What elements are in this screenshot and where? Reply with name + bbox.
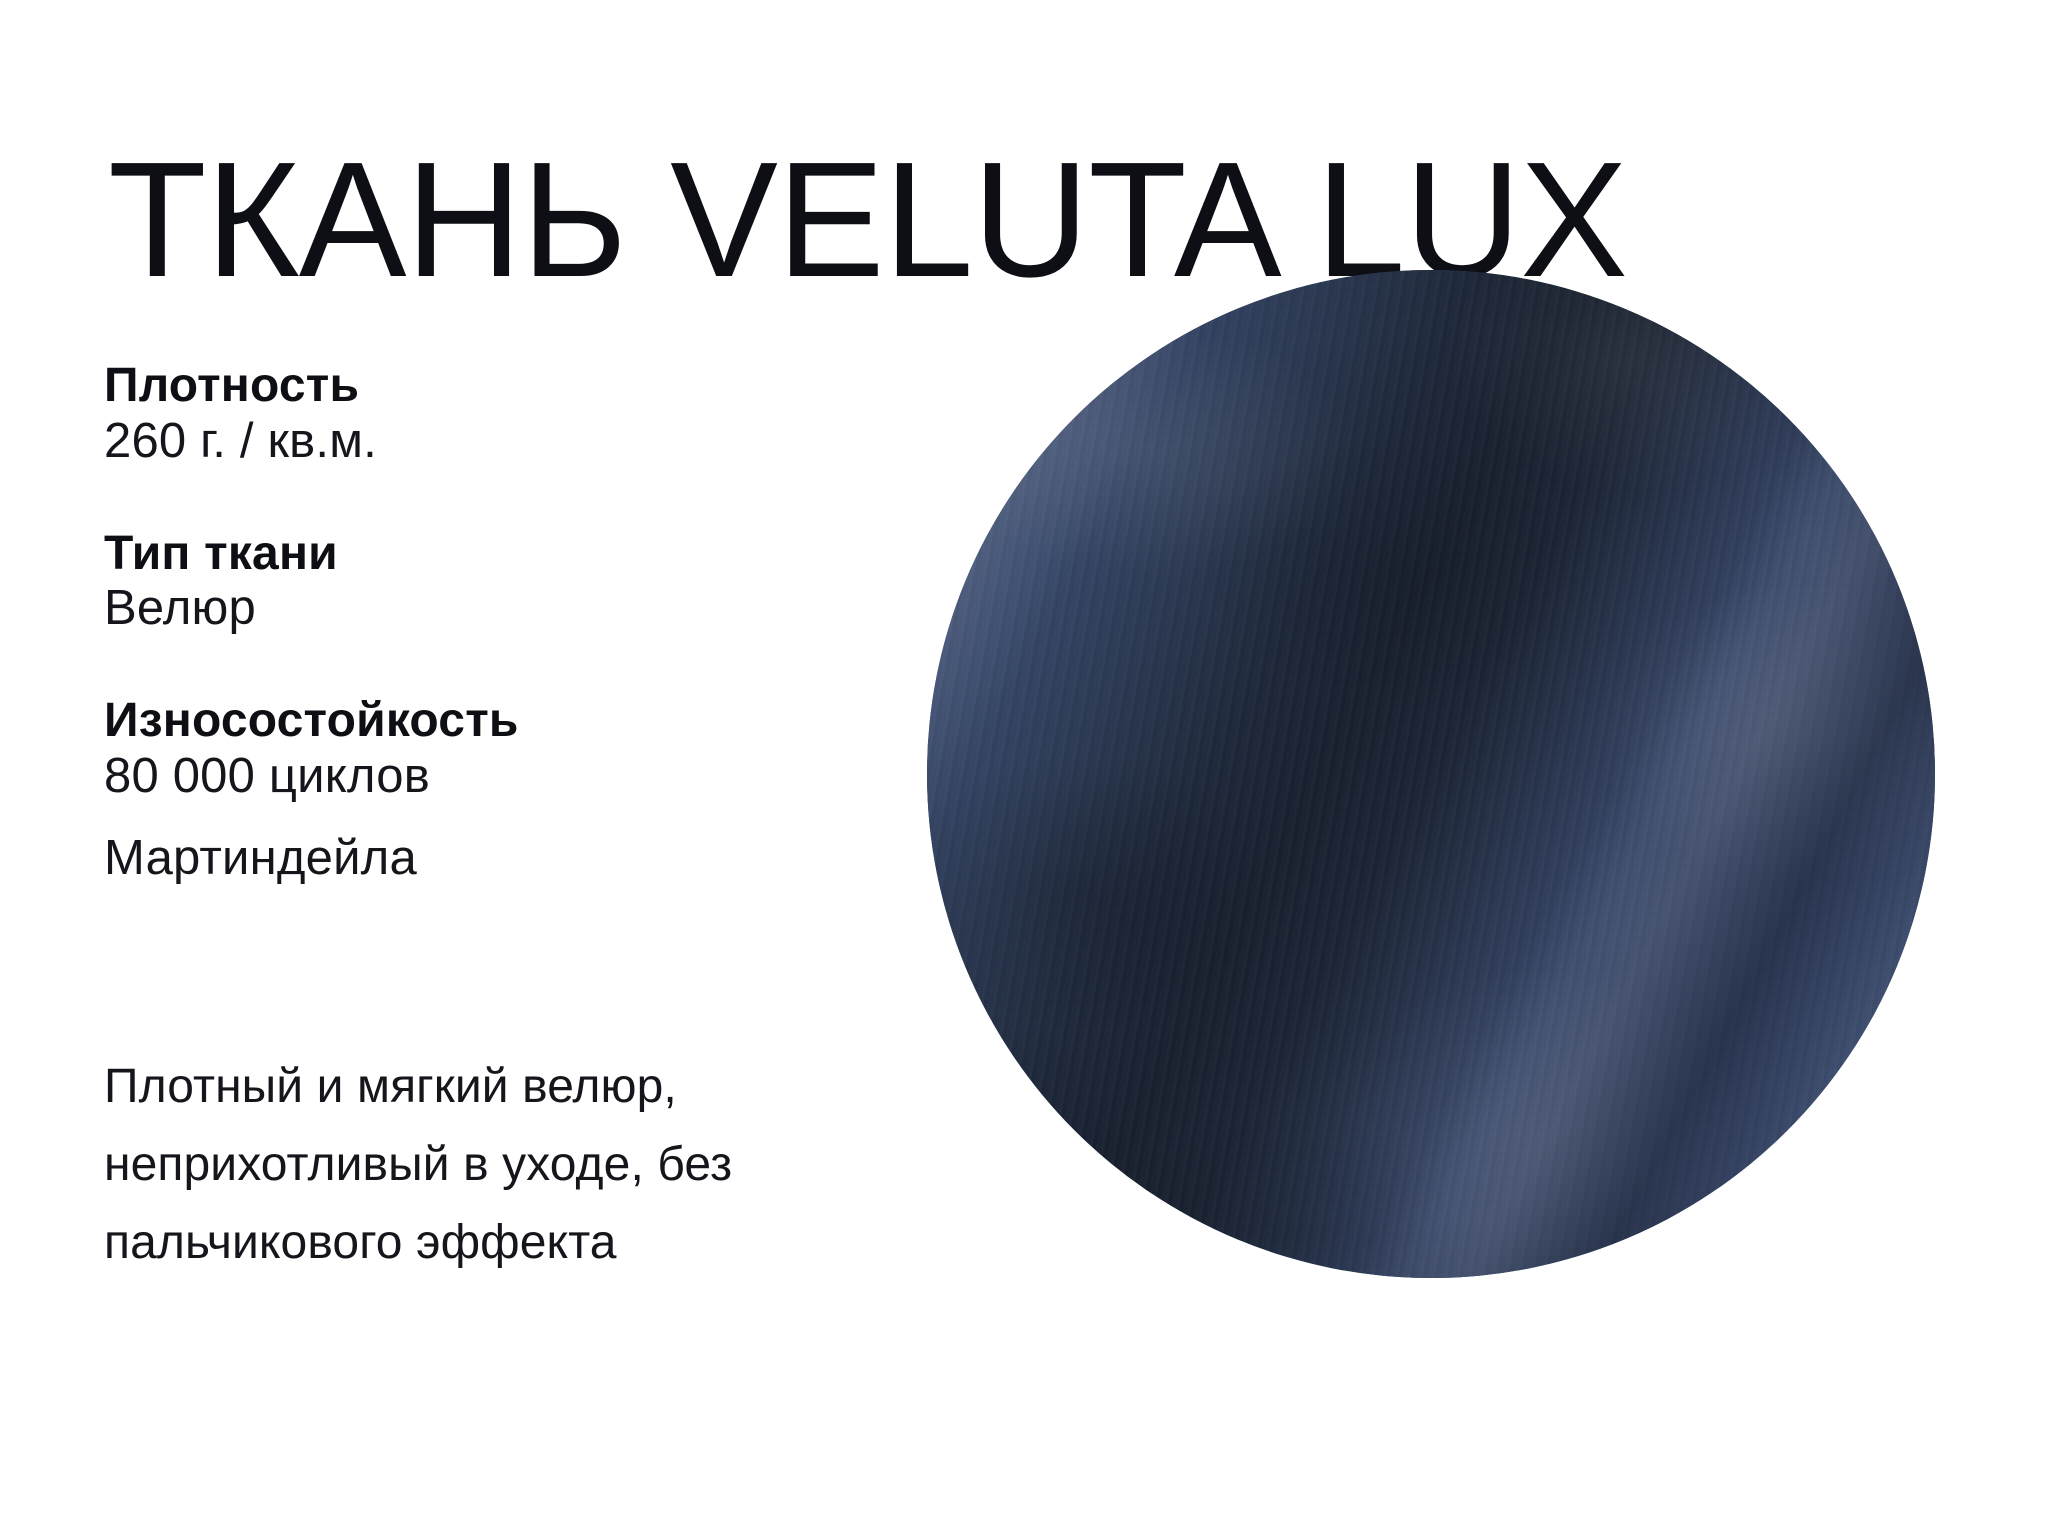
spec-label-density: Плотность bbox=[104, 360, 894, 412]
spec-value-fabric-type: Велюр bbox=[104, 579, 894, 639]
spec-label-fabric-type: Тип ткани bbox=[104, 528, 894, 580]
fabric-spec-card: ТКАНЬ VELUTA LUX Плотность 260 г. / кв.м… bbox=[0, 0, 2048, 1536]
fabric-vignette bbox=[927, 270, 1935, 1278]
spec-list: Плотность 260 г. / кв.м. Тип ткани Велюр… bbox=[104, 360, 894, 889]
spec-block-abrasion: Износостойкость 80 000 циклов Мартиндейл… bbox=[104, 695, 894, 888]
spec-block-fabric-type: Тип ткани Велюр bbox=[104, 528, 894, 640]
spec-value-abrasion-standard: Мартиндейла bbox=[104, 829, 894, 889]
spec-value-abrasion-cycles: 80 000 циклов bbox=[104, 747, 894, 807]
fabric-description: Плотный и мягкий велюр, неприхотливый в … bbox=[104, 1048, 944, 1281]
spec-value-density: 260 г. / кв.м. bbox=[104, 412, 894, 472]
fabric-circle-swatch bbox=[927, 270, 1935, 1278]
spec-label-abrasion: Износостойкость bbox=[104, 695, 894, 747]
spec-block-density: Плотность 260 г. / кв.м. bbox=[104, 360, 894, 472]
